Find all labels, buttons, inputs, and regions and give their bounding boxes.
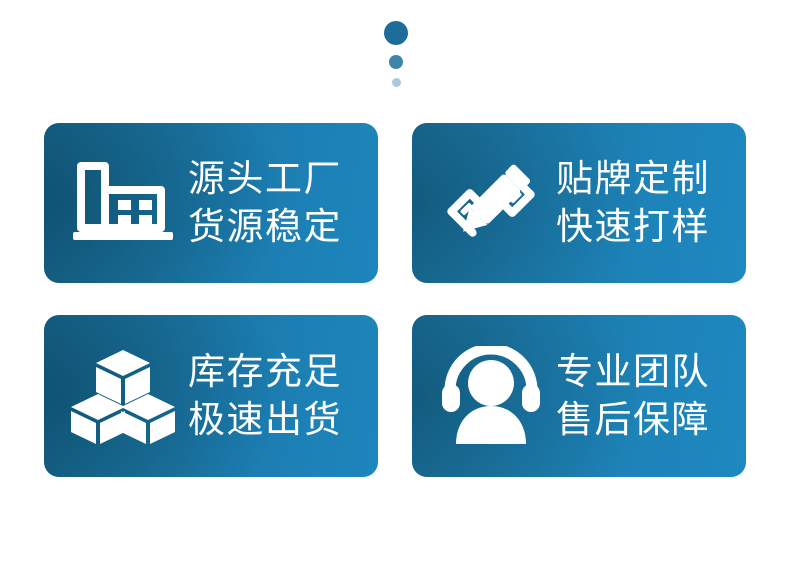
dot-small-icon bbox=[392, 78, 401, 87]
factory-icon bbox=[64, 148, 182, 258]
feature-card-oem-custom[interactable]: 贴牌定制 快速打样 bbox=[412, 123, 746, 283]
feature-card-line2: 极速出货 bbox=[188, 396, 370, 444]
decorative-dots-group bbox=[0, 0, 790, 110]
feature-card-line1: 库存充足 bbox=[188, 348, 370, 396]
feature-card-line2: 快速打样 bbox=[556, 203, 738, 251]
feature-card-text: 库存充足 极速出货 bbox=[182, 348, 370, 444]
boxes-icon bbox=[64, 341, 182, 451]
feature-card-line2: 售后保障 bbox=[556, 396, 738, 444]
feature-card-text: 源头工厂 货源稳定 bbox=[182, 155, 370, 251]
feature-card-line1: 贴牌定制 bbox=[556, 155, 738, 203]
dot-large-icon bbox=[384, 21, 408, 45]
feature-card-grid: 源头工厂 货源稳定 bbox=[44, 123, 746, 477]
headset-person-icon bbox=[432, 341, 550, 451]
pencil-ruler-icon bbox=[432, 148, 550, 258]
dot-medium-icon bbox=[389, 55, 403, 69]
feature-card-service-team[interactable]: 专业团队 售后保障 bbox=[412, 315, 746, 477]
feature-card-stock-supply[interactable]: 库存充足 极速出货 bbox=[44, 315, 378, 477]
feature-card-source-factory[interactable]: 源头工厂 货源稳定 bbox=[44, 123, 378, 283]
feature-card-line1: 源头工厂 bbox=[188, 155, 370, 203]
feature-card-line2: 货源稳定 bbox=[188, 203, 370, 251]
feature-card-text: 专业团队 售后保障 bbox=[550, 348, 738, 444]
feature-card-line1: 专业团队 bbox=[556, 348, 738, 396]
feature-card-text: 贴牌定制 快速打样 bbox=[550, 155, 738, 251]
